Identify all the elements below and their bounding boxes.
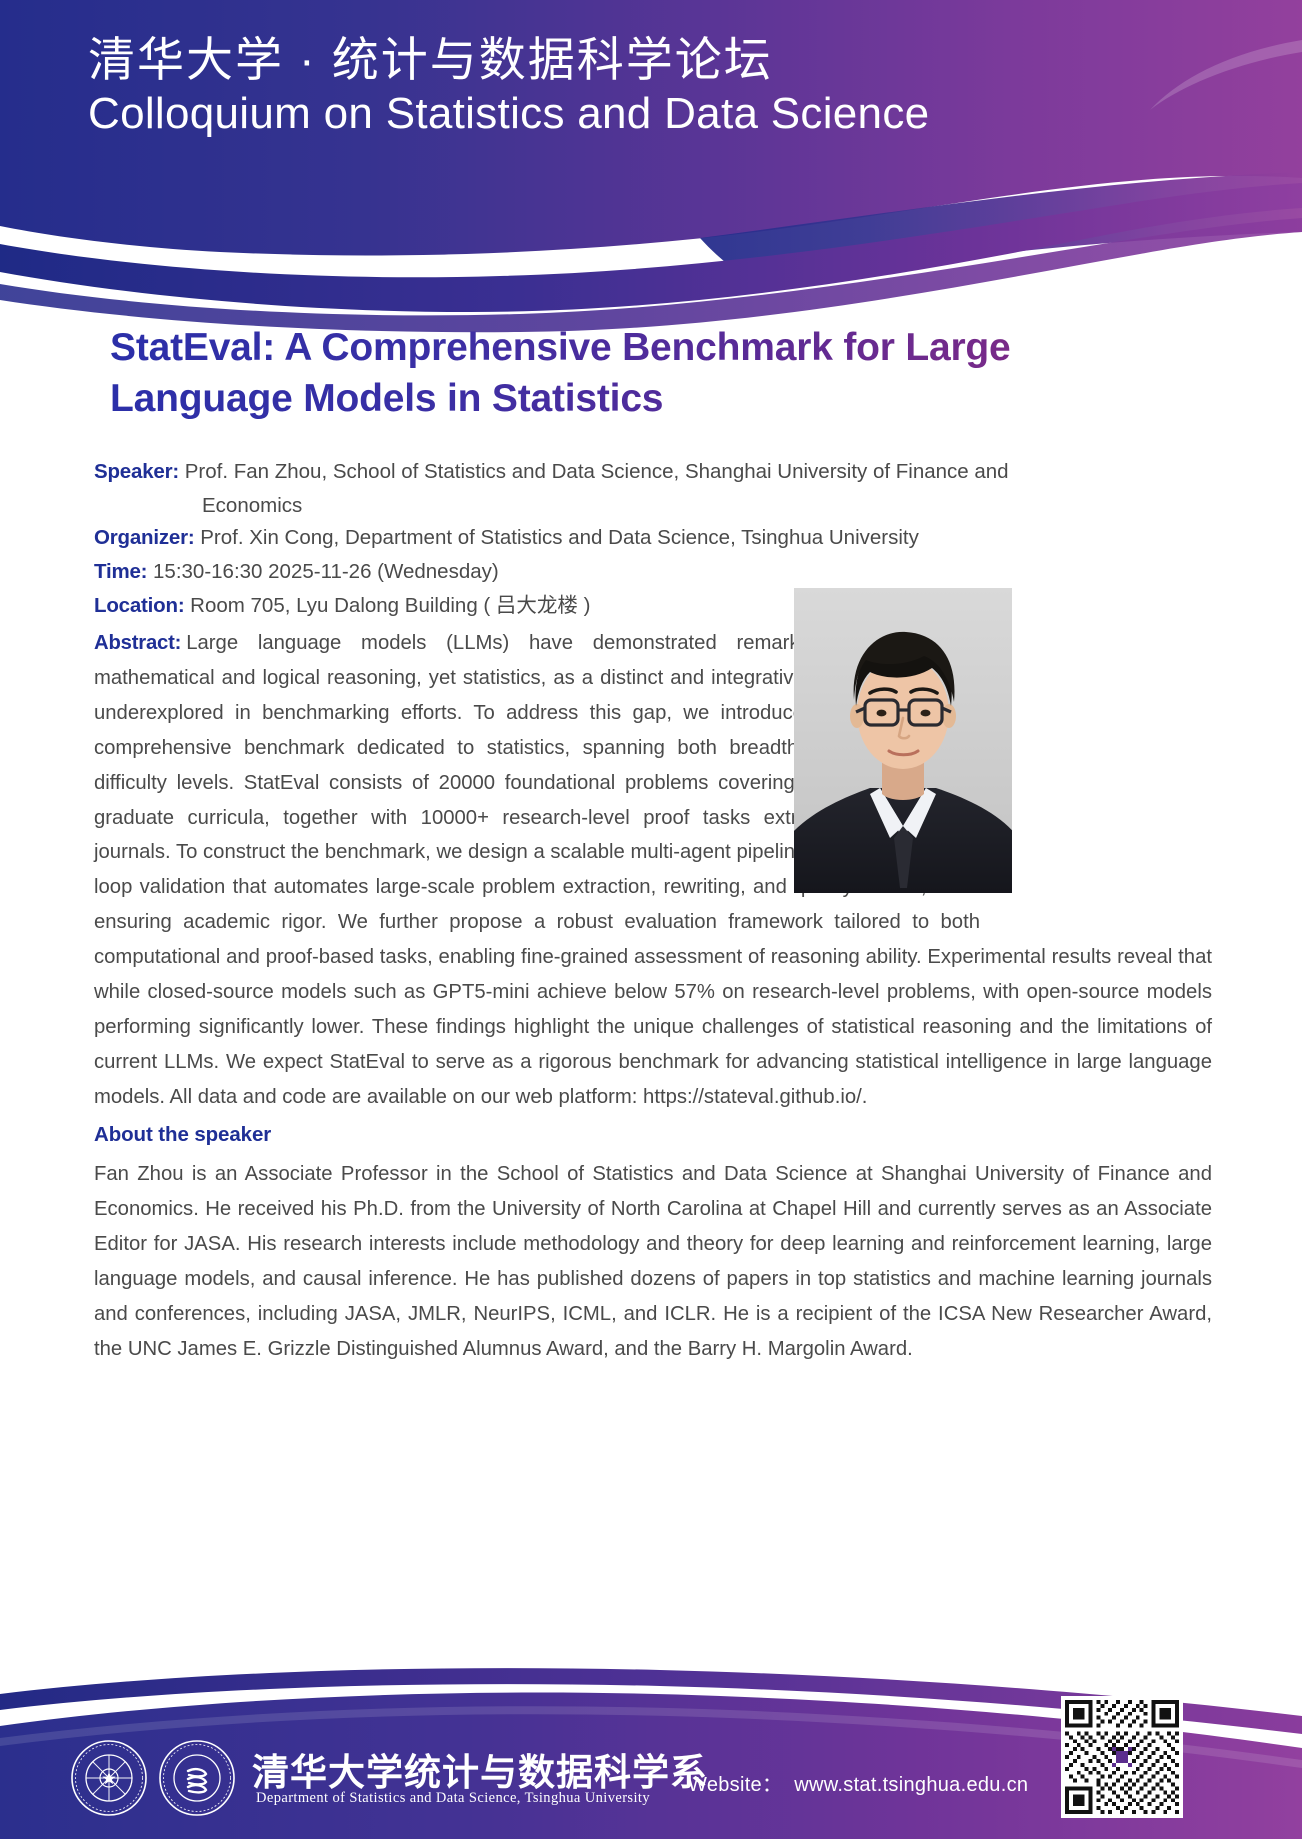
abstract-label: Abstract: [94, 632, 181, 654]
speaker-bio: Fan Zhou is an Associate Professor in th… [94, 1157, 1212, 1366]
location-value: Room 705, Lyu Dalong Building ( 吕大龙楼 ) [190, 594, 590, 617]
location-label: Location: [94, 594, 184, 617]
poster-header: 清华大学 · 统计与数据科学论坛 Colloquium on Statistic… [0, 0, 1302, 340]
speaker-portrait-illustration [794, 588, 1012, 893]
organizer-label: Organizer: [94, 526, 195, 549]
time-label: Time: [94, 560, 147, 583]
header-title-english: Colloquium on Statistics and Data Scienc… [88, 89, 929, 140]
seminar-poster: 清华大学 · 统计与数据科学论坛 Colloquium on Statistic… [0, 0, 1302, 1839]
speaker-value: Prof. Fan Zhou, School of Statistics and… [185, 460, 1009, 483]
speaker-row: Speaker: Prof. Fan Zhou, School of Stati… [94, 456, 1212, 488]
speaker-value-continued: Economics [94, 490, 1212, 522]
department-name-english: Department of Statistics and Data Scienc… [256, 1790, 650, 1807]
department-name-chinese: 清华大学统计与数据科学系 [252, 1742, 708, 1796]
speaker-label: Speaker: [94, 460, 179, 483]
website-label: Website：www.stat.tsinghua.edu.cn [688, 1768, 1028, 1797]
website-url[interactable]: www.stat.tsinghua.edu.cn [794, 1774, 1028, 1796]
location-row: Location: Room 705, Lyu Dalong Building … [94, 590, 1212, 622]
page-title: StatEval: A Comprehensive Benchmark for … [110, 322, 1030, 425]
speaker-photo [794, 588, 1012, 893]
time-value: 15:30-16:30 2025-11-26 (Wednesday) [153, 560, 499, 583]
footer-content: 清华大学统计与数据科学系 Department of Statistics an… [0, 1664, 1302, 1839]
about-speaker-heading: About the speaker [94, 1123, 1212, 1147]
photo-wrap-spacer [980, 626, 1212, 914]
time-row: Time: 15:30-16:30 2025-11-26 (Wednesday) [94, 556, 1212, 588]
organizer-value: Prof. Xin Cong, Department of Statistics… [200, 526, 919, 549]
header-title-group: 清华大学 · 统计与数据科学论坛 Colloquium on Statistic… [88, 34, 929, 139]
department-seal-icon [158, 1739, 236, 1817]
organizer-row: Organizer: Prof. Xin Cong, Department of… [94, 522, 1212, 554]
qr-code-graphic [1065, 1700, 1179, 1814]
qr-code[interactable] [1061, 1696, 1183, 1818]
event-details: Speaker: Prof. Fan Zhou, School of Stati… [94, 456, 1212, 624]
poster-footer: 清华大学统计与数据科学系 Department of Statistics an… [0, 1664, 1302, 1839]
abstract-section: Abstract:Large language models (LLMs) ha… [94, 626, 1212, 1115]
header-title-chinese: 清华大学 · 统计与数据科学论坛 [88, 34, 929, 87]
tsinghua-university-seal-icon [70, 1739, 148, 1817]
